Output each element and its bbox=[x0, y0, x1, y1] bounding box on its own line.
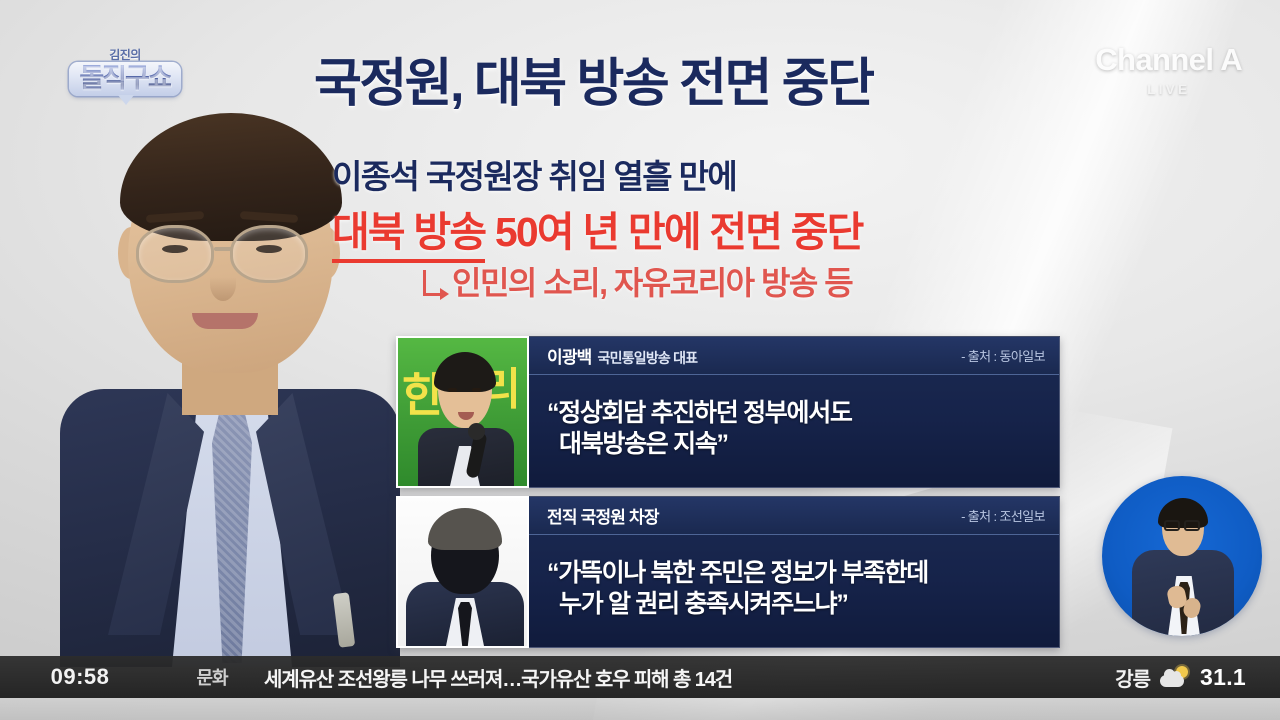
quote-line-2: 누가 알 권리 충족시켜주느냐” bbox=[547, 589, 1043, 621]
live-badge: LIVE bbox=[1095, 81, 1242, 97]
broadcast-stage: 김진의 돌직구쇼 Channel A LIVE 국정원, 대북 방송 전면 중단… bbox=[0, 0, 1280, 720]
quote-thumbnail: 한 리 bbox=[396, 336, 529, 488]
quote-source: - 출처 : 조선일보 bbox=[961, 506, 1045, 525]
sub-headline-3-wrap: 인민의 소리, 자유코리아 방송 등 bbox=[418, 266, 852, 310]
ticker-clock: 09:58 bbox=[0, 664, 160, 690]
corner-arrow-icon bbox=[418, 270, 448, 310]
thumbnail-person-hair bbox=[428, 508, 502, 550]
quote-thumbnail bbox=[396, 496, 529, 648]
quote-line-2: 대북방송은 지속” bbox=[547, 429, 1043, 461]
quote-speaker: 전직 국정원 차장 bbox=[547, 503, 665, 528]
quote-speaker-title: 국민통일방송 대표 bbox=[598, 348, 698, 368]
sub-headline-2-underlined: 대북 방송 bbox=[332, 209, 485, 263]
thumbnail-person-hair bbox=[434, 352, 496, 392]
weather-city: 강릉 bbox=[1115, 663, 1150, 692]
sub-headline-2: 대북 방송 50여 년 만에 전면 중단 bbox=[332, 212, 863, 253]
ticker-headline: 세계유산 조선왕릉 나무 쓰러져…국가유산 호우 피해 총 14건 bbox=[264, 663, 1115, 692]
interpreter-eyeglass-right bbox=[1184, 520, 1200, 531]
subject-eyeglass-right bbox=[230, 225, 308, 283]
weather-temperature: 31.1 bbox=[1200, 664, 1246, 691]
news-ticker: 09:58 문화 세계유산 조선왕릉 나무 쓰러져…국가유산 호우 피해 총 1… bbox=[0, 656, 1280, 698]
quote-speaker: 이광백 국민통일방송 대표 bbox=[547, 343, 697, 368]
sub-headline-1: 이종석 국정원장 취임 열흘 만에 bbox=[332, 160, 736, 193]
quote-text: “정상회담 추진하던 정부에서도 대북방송은 지속” bbox=[529, 375, 1059, 487]
partly-cloudy-icon bbox=[1160, 666, 1190, 688]
ticker-weather: 강릉 31.1 bbox=[1115, 663, 1280, 692]
channel-watermark: Channel A LIVE bbox=[1095, 44, 1242, 97]
quote-body: 전직 국정원 차장 - 출처 : 조선일보 “가뜩이나 북한 주민은 정보가 부… bbox=[529, 496, 1060, 648]
ticker-category: 문화 bbox=[160, 664, 264, 690]
sub-headline-2-rest: 50여 년 만에 전면 중단 bbox=[485, 209, 862, 255]
thumbnail-person-eye-right bbox=[472, 388, 481, 392]
show-logo-bubble: 돌직구쇼 bbox=[69, 62, 180, 96]
sign-language-interpreter bbox=[1102, 476, 1262, 636]
quote-text: “가뜩이나 북한 주민은 정보가 부족한데 누가 알 권리 충족시켜주느냐” bbox=[529, 535, 1059, 647]
quote-header: 이광백 국민통일방송 대표 - 출처 : 동아일보 bbox=[529, 337, 1059, 375]
quote-speaker-name: 전직 국정원 차장 bbox=[547, 503, 659, 528]
microphone-head-icon bbox=[468, 423, 485, 440]
show-logo: 김진의 돌직구쇼 bbox=[53, 30, 197, 114]
quote-card: 한 리 이광백 국민통일방송 대표 - 출처 : 동아일보 “정상회담 추진하던… bbox=[396, 336, 1060, 488]
thumbnail-person-eye-left bbox=[448, 388, 457, 392]
subject-nose bbox=[210, 267, 236, 301]
subject-eyeglass-bridge bbox=[214, 247, 232, 251]
interpreter-eyeglass-left bbox=[1164, 520, 1180, 531]
quote-header: 전직 국정원 차장 - 출처 : 조선일보 bbox=[529, 497, 1059, 535]
subject-photo bbox=[64, 117, 394, 662]
channel-name: Channel A bbox=[1095, 44, 1242, 75]
quote-line-1: “정상회담 추진하던 정부에서도 bbox=[547, 398, 1043, 430]
quote-line-1: “가뜩이나 북한 주민은 정보가 부족한데 bbox=[547, 558, 1043, 590]
sub-headline-3: 인민의 소리, 자유코리아 방송 등 bbox=[452, 266, 852, 301]
quote-speaker-name: 이광백 bbox=[547, 343, 592, 368]
ticker-lower-band bbox=[0, 698, 1280, 720]
main-headline: 국정원, 대북 방송 전면 중단 bbox=[314, 58, 872, 110]
quote-source: - 출처 : 동아일보 bbox=[961, 346, 1045, 365]
quote-body: 이광백 국민통일방송 대표 - 출처 : 동아일보 “정상회담 추진하던 정부에… bbox=[529, 336, 1060, 488]
subject-mouth bbox=[192, 313, 258, 329]
show-logo-title: 돌직구쇼 bbox=[79, 65, 170, 92]
show-logo-subtitle: 김진의 bbox=[109, 49, 141, 61]
quote-card: 전직 국정원 차장 - 출처 : 조선일보 “가뜩이나 북한 주민은 정보가 부… bbox=[396, 496, 1060, 648]
subject-eyeglass-left bbox=[136, 225, 214, 283]
